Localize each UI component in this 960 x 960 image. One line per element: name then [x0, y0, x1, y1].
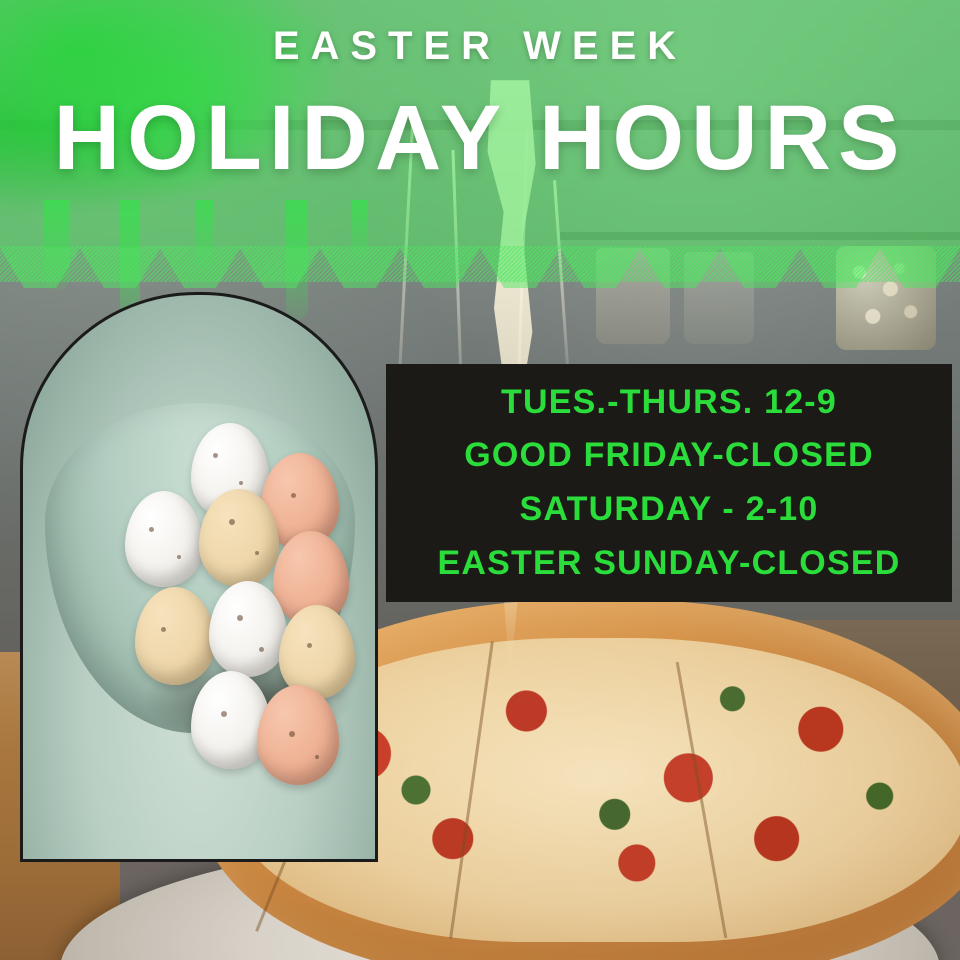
- easter-holiday-hours-poster: EASTER WEEK HOLIDAY HOURS: [0, 0, 960, 960]
- bunting-triangle: [720, 248, 800, 288]
- bunting-triangle: [0, 248, 80, 288]
- eyebrow-text: EASTER WEEK: [0, 26, 960, 66]
- hours-line-easter-sunday: EASTER SUNDAY-CLOSED: [438, 538, 901, 590]
- bunting-triangle: [80, 248, 160, 288]
- hours-line-saturday: SATURDAY - 2-10: [520, 484, 819, 536]
- page-title: HOLIDAY HOURS: [0, 92, 960, 184]
- egg-photo-arch: [20, 292, 378, 862]
- hours-line-good-friday: GOOD FRIDAY-CLOSED: [464, 430, 874, 482]
- bunting-triangle: [800, 248, 880, 288]
- bunting-triangle: [560, 248, 640, 288]
- bunting-triangle: [320, 248, 400, 288]
- hours-panel: TUES.-THURS. 12-9 GOOD FRIDAY-CLOSED SAT…: [386, 364, 952, 602]
- bunting-triangle: [480, 248, 560, 288]
- headline-block: EASTER WEEK HOLIDAY HOURS: [0, 26, 960, 184]
- bunting-triangle: [640, 248, 720, 288]
- bunting-triangle: [880, 248, 960, 288]
- bunting-triangle: [240, 248, 320, 288]
- bunting-triangles: [0, 248, 960, 292]
- hours-line-tues-thurs: TUES.-THURS. 12-9: [501, 377, 837, 429]
- bunting-triangle: [400, 248, 480, 288]
- bunting-triangle: [160, 248, 240, 288]
